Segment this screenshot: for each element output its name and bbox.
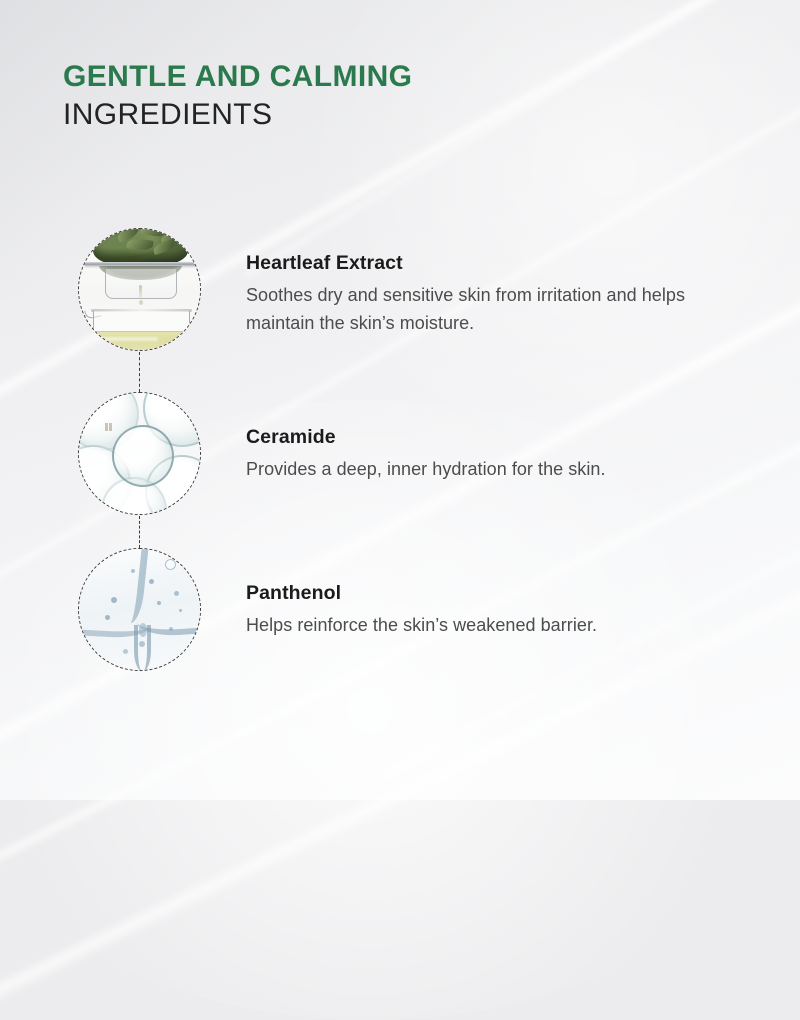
connector-line-1-2 [139,352,140,392]
heartleaf-leaves [93,228,188,266]
transparent-bubbles-photo [79,393,200,514]
extract-liquid [94,331,189,351]
connector-line-2-3 [139,516,140,548]
ingredient-name: Panthenol [246,580,597,606]
panthenol-text: Panthenol Helps reinforce the skin’s wea… [246,580,597,640]
bubble-speck [123,649,128,654]
water-stream-bubbles-photo [79,549,200,670]
water-droplet-core [139,623,147,637]
strainer-rim [84,262,197,266]
page-title: GENTLE AND CALMING INGREDIENTS [63,58,412,135]
bubble-speck [165,559,176,570]
ceramide-text: Ceramide Provides a deep, inner hydratio… [246,424,606,484]
heartleaf-extract-thumbnail [78,228,201,351]
leaf-shape [126,237,153,252]
heartleaf-extract-text: Heartleaf Extract Soothes dry and sensit… [246,250,694,338]
ingredient-description: Provides a deep, inner hydration for the… [246,456,606,484]
glass-beaker [93,311,190,351]
ingredient-name: Heartleaf Extract [246,250,694,276]
bubble-speck [169,627,173,631]
bubble-speck [149,579,154,584]
bubble-speck [174,591,179,596]
page-title-line-1: GENTLE AND CALMING [63,58,412,96]
bubble-speck [189,571,196,578]
highlight-speck [105,423,112,431]
bubble-shape-primary [112,425,174,487]
bubble-speck [131,569,135,573]
ingredient-name: Ceramide [246,424,606,450]
ingredient-description: Soothes dry and sensitive skin from irri… [246,282,694,338]
bubble-speck [105,615,110,620]
heartleaf-strainer-beaker-photo [79,229,200,350]
bubble-speck [157,601,161,605]
panthenol-thumbnail [78,548,201,671]
bubble-speck [139,641,145,647]
leaf-shape [152,239,176,255]
page-title-line-2: INGREDIENTS [63,96,412,134]
bubble-speck [111,597,117,603]
ingredient-description: Helps reinforce the skin’s weakened barr… [246,612,597,640]
bubble-speck [179,609,182,612]
extract-droplet [139,300,143,305]
extract-drip [139,285,142,298]
ceramide-thumbnail [78,392,201,515]
